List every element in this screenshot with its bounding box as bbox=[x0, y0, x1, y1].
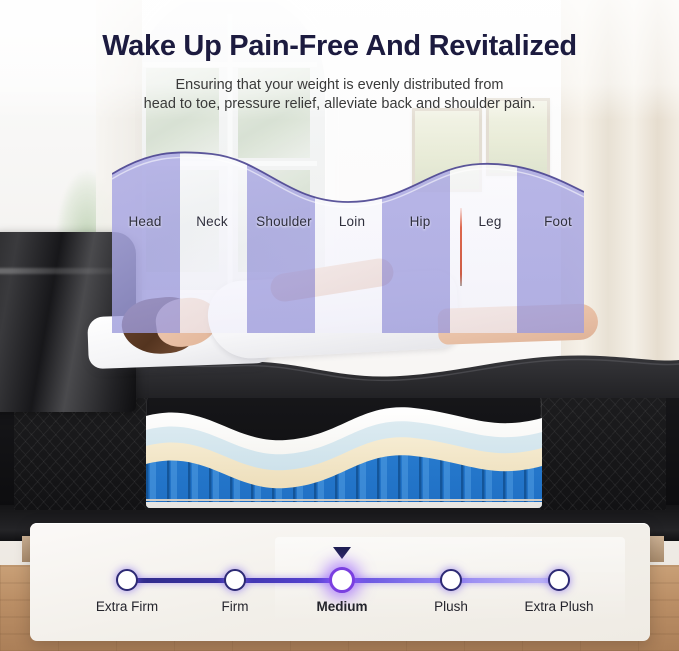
firmness-label-extra-plush[interactable]: Extra Plush bbox=[499, 599, 619, 614]
firmness-label-extra-firm[interactable]: Extra Firm bbox=[67, 599, 187, 614]
zone-label-foot: Foot bbox=[522, 214, 594, 229]
triangle-marker-icon bbox=[333, 547, 351, 559]
firmness-dot-extra-plush[interactable] bbox=[548, 569, 570, 591]
firmness-label-medium[interactable]: Medium bbox=[282, 599, 402, 614]
mattress-side-right bbox=[540, 392, 666, 510]
bed-leg bbox=[648, 536, 664, 562]
firmness-dot-medium[interactable] bbox=[329, 567, 355, 593]
zone-label-neck: Neck bbox=[176, 214, 248, 229]
firmness-dot-firm[interactable] bbox=[224, 569, 246, 591]
firmness-dot-plush[interactable] bbox=[440, 569, 462, 591]
firmness-slider[interactable]: Extra Firm Firm Medium Plush Extra Plush bbox=[96, 569, 584, 591]
subtitle-line-1: Ensuring that your weight is evenly dist… bbox=[0, 76, 679, 95]
firmness-dot-extra-firm[interactable] bbox=[116, 569, 138, 591]
page-title: Wake Up Pain-Free And Revitalized bbox=[0, 30, 679, 63]
body-zone-overlay: Head Neck Shoulder Loin Hip Leg Foot bbox=[112, 148, 584, 333]
firmness-scale-card: Extra Firm Firm Medium Plush Extra Plush bbox=[30, 523, 650, 641]
zone-label-row: Head Neck Shoulder Loin Hip Leg Foot bbox=[112, 148, 584, 333]
zone-label-head: Head bbox=[109, 214, 181, 229]
product-infographic: Head Neck Shoulder Loin Hip Leg Foot Wak… bbox=[0, 0, 679, 651]
firmness-label-firm[interactable]: Firm bbox=[175, 599, 295, 614]
zone-label-loin: Loin bbox=[316, 214, 388, 229]
subtitle-line-2: head to toe, pressure relief, alleviate … bbox=[0, 95, 679, 114]
mattress-layer-cutaway bbox=[146, 392, 542, 508]
zone-label-shoulder: Shoulder bbox=[248, 214, 320, 229]
zone-label-hip: Hip bbox=[384, 214, 456, 229]
zone-label-leg: Leg bbox=[454, 214, 526, 229]
firmness-label-plush[interactable]: Plush bbox=[391, 599, 511, 614]
